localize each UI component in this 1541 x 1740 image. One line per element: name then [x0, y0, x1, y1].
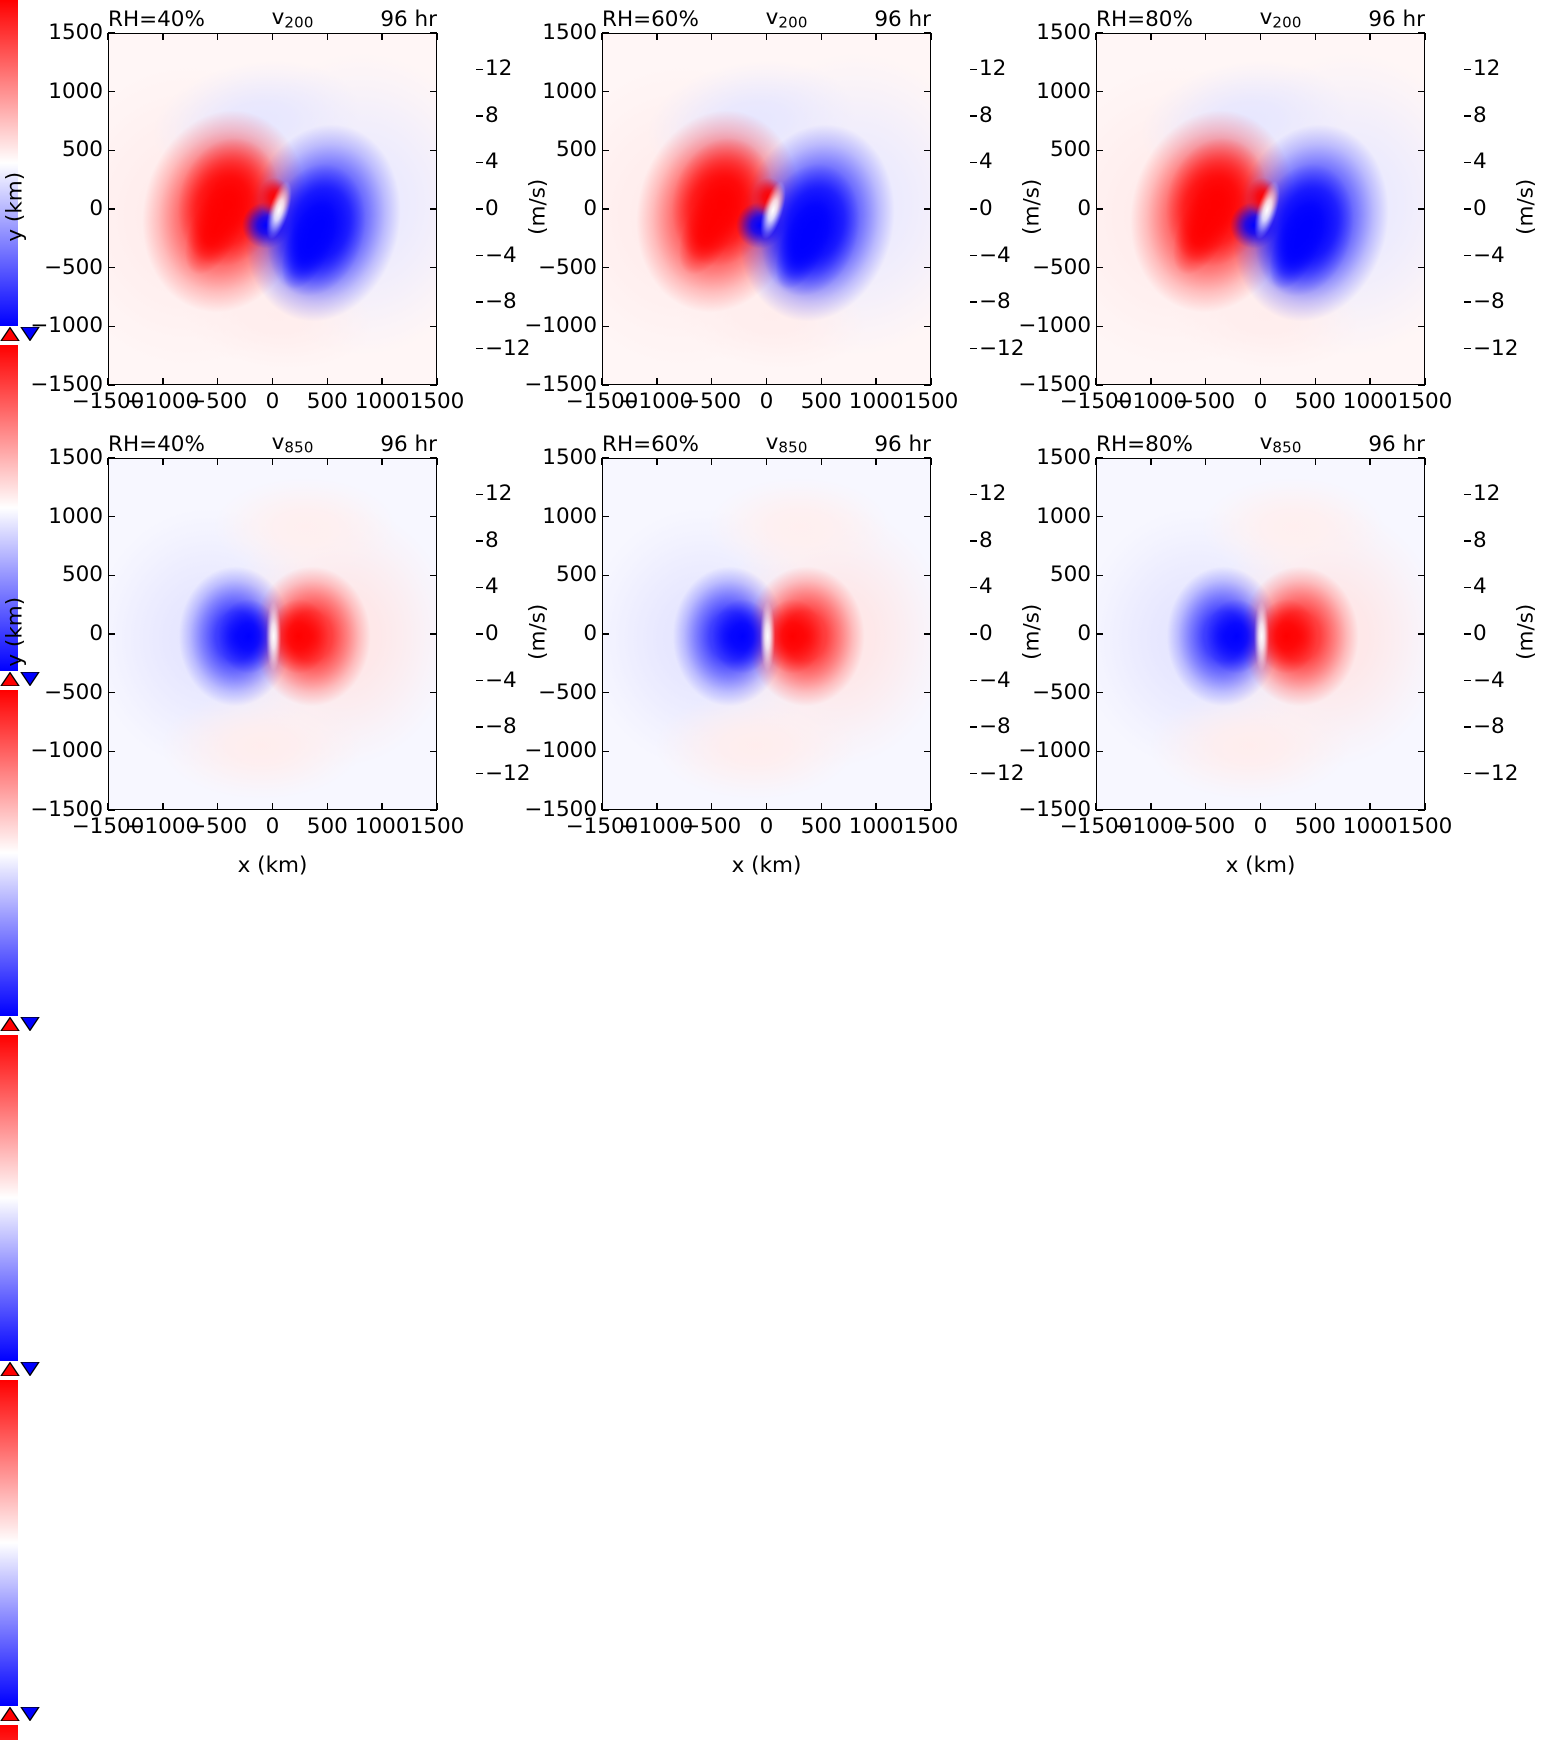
colorbar-extend-min-arrow	[20, 1017, 40, 1031]
colorbar-unit-label: (m/s)	[1515, 572, 1537, 692]
x-tick-mark	[1205, 378, 1207, 385]
x-axis-label: x (km)	[108, 855, 437, 877]
x-tick-mark	[217, 33, 219, 40]
plot-area-p02	[1096, 33, 1425, 385]
colorbar-tick-label: −12	[979, 338, 1024, 360]
y-tick-mark	[924, 457, 931, 459]
panel-title-p11: RH=60%v85096 hr	[602, 432, 931, 455]
panel-variable-label: v200	[1193, 7, 1368, 30]
y-tick-mark	[924, 91, 931, 93]
panel-time-label: 96 hr	[380, 9, 437, 31]
colorbar-tick-mark	[970, 115, 977, 116]
colorbar-tick-mark	[476, 494, 483, 495]
colorbar-tick-mark	[1464, 348, 1471, 349]
y-tick-mark	[1096, 516, 1103, 518]
y-tick-mark	[602, 267, 609, 269]
colorbar-tick-mark	[970, 69, 977, 70]
y-tick-mark	[108, 326, 115, 328]
y-tick-mark	[1418, 575, 1425, 577]
y-tick-mark	[1418, 633, 1425, 635]
colorbar-tick-mark	[1464, 115, 1471, 116]
colorbar-tick-label: 0	[979, 623, 993, 645]
x-tick-mark	[272, 33, 274, 40]
colorbar-tick-label: −12	[1473, 763, 1518, 785]
colorbar-tick-mark	[970, 773, 977, 774]
colorbar-tick-mark	[476, 348, 483, 349]
x-tick-mark	[381, 803, 383, 810]
y-tick-label: 1500	[999, 447, 1091, 469]
y-tick-mark	[1418, 91, 1425, 93]
colorbar-tick-mark	[970, 726, 977, 727]
x-tick-mark	[217, 803, 219, 810]
colorbar-tick-mark	[1464, 494, 1471, 495]
y-tick-mark	[1096, 575, 1103, 577]
y-tick-label: 1500	[999, 22, 1091, 44]
x-tick-mark	[1150, 803, 1152, 810]
panel-rh-label: RH=80%	[1096, 434, 1193, 456]
y-tick-mark	[108, 32, 115, 34]
y-tick-mark	[108, 633, 115, 635]
variable-subscript: 200	[778, 13, 807, 31]
y-tick-mark	[602, 384, 609, 386]
colorbar-extend-min-arrow	[20, 1362, 40, 1376]
y-tick-mark	[602, 150, 609, 152]
colorbar-tick-mark	[476, 633, 483, 634]
y-tick-mark	[430, 326, 437, 328]
x-tick-mark	[656, 803, 658, 810]
panel-title-p12: RH=80%v85096 hr	[1096, 432, 1425, 455]
y-tick-mark	[108, 150, 115, 152]
y-tick-mark	[924, 751, 931, 753]
colorbar-tick-mark	[476, 208, 483, 209]
colorbar-tick-label: 0	[1473, 198, 1487, 220]
y-axis-label: y (km)	[4, 456, 26, 808]
y-tick-mark	[1096, 267, 1103, 269]
variable-symbol: v	[1260, 430, 1273, 455]
panel-title-p01: RH=60%v20096 hr	[602, 7, 931, 30]
colorbar-tick-mark	[970, 255, 977, 256]
colorbar-tick-label: −12	[485, 763, 530, 785]
x-tick-label: 1500	[876, 816, 986, 838]
variable-subscript: 850	[284, 438, 313, 456]
colorbar-tick-label: 4	[485, 576, 499, 598]
variable-subscript: 200	[284, 13, 313, 31]
y-tick-label: −1000	[999, 315, 1091, 337]
colorbar-tick-label: −8	[485, 716, 517, 738]
colorbar-tick-mark	[476, 680, 483, 681]
y-tick-mark	[430, 267, 437, 269]
x-tick-mark	[601, 458, 603, 465]
plot-area-p11	[602, 458, 931, 810]
colorbar-tick-label: 8	[485, 105, 499, 127]
y-tick-mark	[1418, 208, 1425, 210]
panel-time-label: 96 hr	[1368, 9, 1425, 31]
x-tick-mark	[1260, 33, 1262, 40]
y-tick-mark	[602, 633, 609, 635]
colorbar-tick-mark	[1464, 587, 1471, 588]
y-tick-label: −1000	[505, 740, 597, 762]
colorbar-tick-label: 4	[1473, 576, 1487, 598]
y-tick-mark	[924, 575, 931, 577]
x-tick-mark	[1424, 33, 1426, 40]
x-tick-mark	[381, 378, 383, 385]
y-tick-mark	[108, 208, 115, 210]
y-tick-label: 1000	[999, 81, 1091, 103]
colorbar-tick-mark	[1464, 301, 1471, 302]
y-tick-mark	[924, 326, 931, 328]
variable-subscript: 850	[1272, 438, 1301, 456]
x-tick-mark	[1260, 458, 1262, 465]
panel-variable-label: v850	[1193, 432, 1368, 455]
y-tick-mark	[602, 692, 609, 694]
y-tick-mark	[1418, 457, 1425, 459]
colorbar-tick-label: 4	[1473, 151, 1487, 173]
y-tick-mark	[924, 809, 931, 811]
y-tick-mark	[924, 516, 931, 518]
colorbar-tick-label: 0	[979, 198, 993, 220]
panel-variable-label: v850	[205, 432, 380, 455]
y-tick-mark	[602, 516, 609, 518]
colorbar-tick-label: 4	[979, 576, 993, 598]
x-tick-mark	[107, 33, 109, 40]
y-tick-mark	[108, 457, 115, 459]
x-tick-mark	[1095, 33, 1097, 40]
colorbar-tick-mark	[1464, 633, 1471, 634]
y-tick-label: 1000	[999, 506, 1091, 528]
y-tick-mark	[924, 692, 931, 694]
x-tick-mark	[1315, 33, 1317, 40]
x-tick-mark	[821, 458, 823, 465]
y-tick-mark	[924, 208, 931, 210]
x-tick-label: 1500	[1370, 391, 1480, 413]
colorbar-extend-min-arrow	[20, 1707, 40, 1721]
y-tick-mark	[430, 208, 437, 210]
y-tick-label: 1000	[505, 81, 597, 103]
x-tick-mark	[1150, 458, 1152, 465]
x-tick-mark	[656, 33, 658, 40]
x-tick-label: 1500	[876, 391, 986, 413]
x-tick-mark	[1095, 458, 1097, 465]
colorbar-tick-label: −8	[979, 291, 1011, 313]
colorbar-tick-mark	[970, 540, 977, 541]
x-tick-mark	[601, 33, 603, 40]
y-tick-label: −500	[999, 257, 1091, 279]
colorbar-tick-label: 8	[1473, 530, 1487, 552]
x-tick-mark	[930, 458, 932, 465]
y-tick-mark	[924, 384, 931, 386]
colorbar-tick-mark	[476, 255, 483, 256]
y-tick-mark	[430, 150, 437, 152]
panel-variable-label: v200	[699, 7, 874, 30]
colorbar-tick-label: −4	[1473, 670, 1505, 692]
x-tick-mark	[162, 803, 164, 810]
x-tick-mark	[930, 33, 932, 40]
y-tick-label: 0	[999, 198, 1091, 220]
x-tick-mark	[272, 803, 274, 810]
y-tick-mark	[108, 516, 115, 518]
colorbar-tick-label: −12	[1473, 338, 1518, 360]
x-tick-mark	[1315, 458, 1317, 465]
variable-subscript: 850	[778, 438, 807, 456]
variable-symbol: v	[766, 430, 779, 455]
y-tick-mark	[108, 267, 115, 269]
x-tick-mark	[766, 803, 768, 810]
panel-title-p10: RH=40%v85096 hr	[108, 432, 437, 455]
panel-title-p02: RH=80%v20096 hr	[1096, 7, 1425, 30]
y-tick-mark	[1418, 809, 1425, 811]
x-tick-mark	[272, 378, 274, 385]
panel-time-label: 96 hr	[874, 434, 931, 456]
y-tick-label: 500	[999, 139, 1091, 161]
y-tick-label: −500	[505, 682, 597, 704]
plot-area-p12	[1096, 458, 1425, 810]
colorbar-extend-max-arrow	[0, 1707, 20, 1721]
variable-symbol: v	[1260, 5, 1273, 30]
y-tick-mark	[430, 751, 437, 753]
panel-rh-label: RH=40%	[108, 434, 205, 456]
panel-rh-label: RH=80%	[1096, 9, 1193, 31]
x-tick-mark	[327, 803, 329, 810]
y-tick-mark	[430, 575, 437, 577]
colorbar-tick-mark	[1464, 540, 1471, 541]
colorbar-extend-max-arrow	[0, 1017, 20, 1031]
y-tick-mark	[1418, 692, 1425, 694]
colorbar-tick-mark	[476, 69, 483, 70]
colorbar-tick-mark	[476, 540, 483, 541]
x-tick-mark	[1315, 803, 1317, 810]
colorbar-tick-mark	[970, 680, 977, 681]
y-tick-mark	[108, 384, 115, 386]
figure-canvas: RH=40%v20096 hr150010005000−500−1000−150…	[0, 0, 1541, 870]
y-tick-mark	[108, 575, 115, 577]
y-tick-label: 1500	[505, 447, 597, 469]
y-tick-label: 500	[505, 139, 597, 161]
x-tick-mark	[766, 458, 768, 465]
variable-symbol: v	[272, 5, 285, 30]
colorbar-tick-mark	[970, 587, 977, 588]
x-tick-mark	[1315, 378, 1317, 385]
y-tick-mark	[602, 457, 609, 459]
colorbar-gradient	[0, 1725, 18, 1740]
y-tick-mark	[1096, 633, 1103, 635]
x-tick-label: 1500	[382, 391, 492, 413]
x-tick-mark	[1424, 458, 1426, 465]
x-tick-mark	[1205, 803, 1207, 810]
colorbar-unit-label: (m/s)	[1515, 147, 1537, 267]
y-tick-mark	[430, 457, 437, 459]
y-tick-mark	[924, 267, 931, 269]
colorbar-tick-mark	[970, 633, 977, 634]
x-tick-mark	[327, 33, 329, 40]
y-tick-label: 0	[505, 623, 597, 645]
x-tick-mark	[1260, 803, 1262, 810]
y-tick-mark	[602, 809, 609, 811]
x-tick-mark	[162, 458, 164, 465]
panel-rh-label: RH=40%	[108, 9, 205, 31]
y-tick-mark	[1418, 751, 1425, 753]
colorbar-tick-label: −12	[485, 338, 530, 360]
y-tick-label: 500	[505, 564, 597, 586]
x-tick-mark	[875, 803, 877, 810]
colorbar-tick-mark	[1464, 162, 1471, 163]
y-tick-label: −1000	[505, 315, 597, 337]
panel-time-label: 96 hr	[380, 434, 437, 456]
colorbar-tick-mark	[1464, 773, 1471, 774]
colorbar-tick-mark	[476, 301, 483, 302]
y-tick-mark	[108, 91, 115, 93]
colorbar-tick-mark	[476, 162, 483, 163]
colorbar-tick-mark	[970, 301, 977, 302]
x-tick-mark	[711, 378, 713, 385]
colorbar-tick-label: −8	[1473, 716, 1505, 738]
colorbar-tick-label: 8	[979, 105, 993, 127]
colorbar-tick-mark	[1464, 69, 1471, 70]
y-tick-mark	[602, 326, 609, 328]
y-tick-mark	[1096, 809, 1103, 811]
y-tick-mark	[108, 751, 115, 753]
colorbar-tick-label: 4	[979, 151, 993, 173]
y-tick-mark	[108, 809, 115, 811]
y-tick-mark	[1418, 267, 1425, 269]
colorbar-tick-label: −4	[1473, 245, 1505, 267]
x-tick-mark	[1150, 378, 1152, 385]
y-tick-mark	[430, 32, 437, 34]
x-tick-mark	[381, 33, 383, 40]
plot-area-p10	[108, 458, 437, 810]
x-tick-mark	[327, 378, 329, 385]
y-tick-mark	[108, 692, 115, 694]
colorbar-tick-mark	[476, 115, 483, 116]
x-tick-mark	[766, 33, 768, 40]
colorbar-tick-label: 8	[979, 530, 993, 552]
x-tick-mark	[1150, 33, 1152, 40]
x-tick-mark	[107, 458, 109, 465]
panel-time-label: 96 hr	[1368, 434, 1425, 456]
variable-symbol: v	[766, 5, 779, 30]
y-tick-mark	[1096, 384, 1103, 386]
colorbar-tick-mark	[476, 587, 483, 588]
y-tick-mark	[1418, 32, 1425, 34]
y-tick-mark	[1418, 384, 1425, 386]
x-tick-mark	[436, 33, 438, 40]
colorbar-tick-label: 12	[485, 483, 512, 505]
y-tick-mark	[602, 32, 609, 34]
x-tick-mark	[711, 803, 713, 810]
y-tick-mark	[602, 751, 609, 753]
x-tick-mark	[875, 33, 877, 40]
colorbar-tick-mark	[1464, 255, 1471, 256]
colorbar-tick-label: 0	[485, 198, 499, 220]
x-tick-mark	[217, 378, 219, 385]
y-tick-mark	[602, 208, 609, 210]
x-tick-mark	[381, 458, 383, 465]
y-tick-mark	[1418, 516, 1425, 518]
colorbar-tick-mark	[476, 726, 483, 727]
panel-variable-label: v850	[699, 432, 874, 455]
x-tick-mark	[875, 378, 877, 385]
x-tick-mark	[162, 33, 164, 40]
colorbar-tick-label: −12	[979, 763, 1024, 785]
colorbar-tick-mark	[970, 494, 977, 495]
x-tick-mark	[1369, 378, 1371, 385]
y-tick-mark	[924, 150, 931, 152]
colorbar-tick-mark	[1464, 208, 1471, 209]
x-tick-mark	[821, 378, 823, 385]
y-tick-mark	[430, 384, 437, 386]
y-tick-label: −500	[999, 682, 1091, 704]
y-tick-mark	[1096, 692, 1103, 694]
y-tick-mark	[430, 809, 437, 811]
colorbar-tick-label: 0	[485, 623, 499, 645]
colorbar-tick-label: −8	[979, 716, 1011, 738]
panel-rh-label: RH=60%	[602, 9, 699, 31]
y-tick-mark	[924, 633, 931, 635]
y-tick-mark	[1096, 326, 1103, 328]
panel-rh-label: RH=60%	[602, 434, 699, 456]
x-tick-mark	[1205, 33, 1207, 40]
y-tick-mark	[1418, 326, 1425, 328]
y-tick-label: 500	[999, 564, 1091, 586]
y-tick-mark	[430, 516, 437, 518]
x-tick-mark	[656, 378, 658, 385]
colorbar-tick-mark	[970, 162, 977, 163]
y-tick-mark	[1096, 751, 1103, 753]
y-axis-label: y (km)	[4, 31, 26, 383]
colorbar-tick-label: 12	[485, 58, 512, 80]
x-tick-label: 1500	[382, 816, 492, 838]
colorbar-gradient	[0, 1380, 18, 1706]
plot-area-p00	[108, 33, 437, 385]
colorbar-tick-mark	[1464, 726, 1471, 727]
y-tick-label: 0	[505, 198, 597, 220]
x-tick-mark	[1260, 378, 1262, 385]
x-tick-mark	[1369, 803, 1371, 810]
y-tick-mark	[430, 692, 437, 694]
colorbar-tick-mark	[970, 208, 977, 209]
colorbar-tick-label: 12	[1473, 483, 1500, 505]
colorbar-gradient	[0, 1035, 18, 1361]
x-tick-mark	[272, 458, 274, 465]
x-axis-label: x (km)	[1096, 855, 1425, 877]
x-tick-mark	[821, 33, 823, 40]
x-tick-mark	[1369, 33, 1371, 40]
y-tick-label: 0	[999, 623, 1091, 645]
panel-variable-label: v200	[205, 7, 380, 30]
x-tick-mark	[875, 458, 877, 465]
y-tick-mark	[1096, 32, 1103, 34]
y-tick-mark	[1096, 208, 1103, 210]
colorbar-tick-label: 4	[485, 151, 499, 173]
y-tick-mark	[1096, 457, 1103, 459]
colorbar-tick-label: −8	[1473, 291, 1505, 313]
y-tick-label: 1000	[505, 506, 597, 528]
x-tick-mark	[162, 378, 164, 385]
colorbar-tick-label: 8	[485, 530, 499, 552]
y-tick-mark	[430, 91, 437, 93]
x-tick-mark	[436, 458, 438, 465]
colorbar-tick-label: 12	[1473, 58, 1500, 80]
panel-time-label: 96 hr	[874, 9, 931, 31]
x-tick-label: 1500	[1370, 816, 1480, 838]
colorbar-tick-label: 8	[1473, 105, 1487, 127]
y-tick-label: −1000	[999, 740, 1091, 762]
y-tick-label: −500	[505, 257, 597, 279]
variable-symbol: v	[272, 430, 285, 455]
x-tick-mark	[1369, 458, 1371, 465]
y-tick-mark	[602, 575, 609, 577]
y-tick-mark	[1096, 150, 1103, 152]
x-tick-mark	[766, 378, 768, 385]
